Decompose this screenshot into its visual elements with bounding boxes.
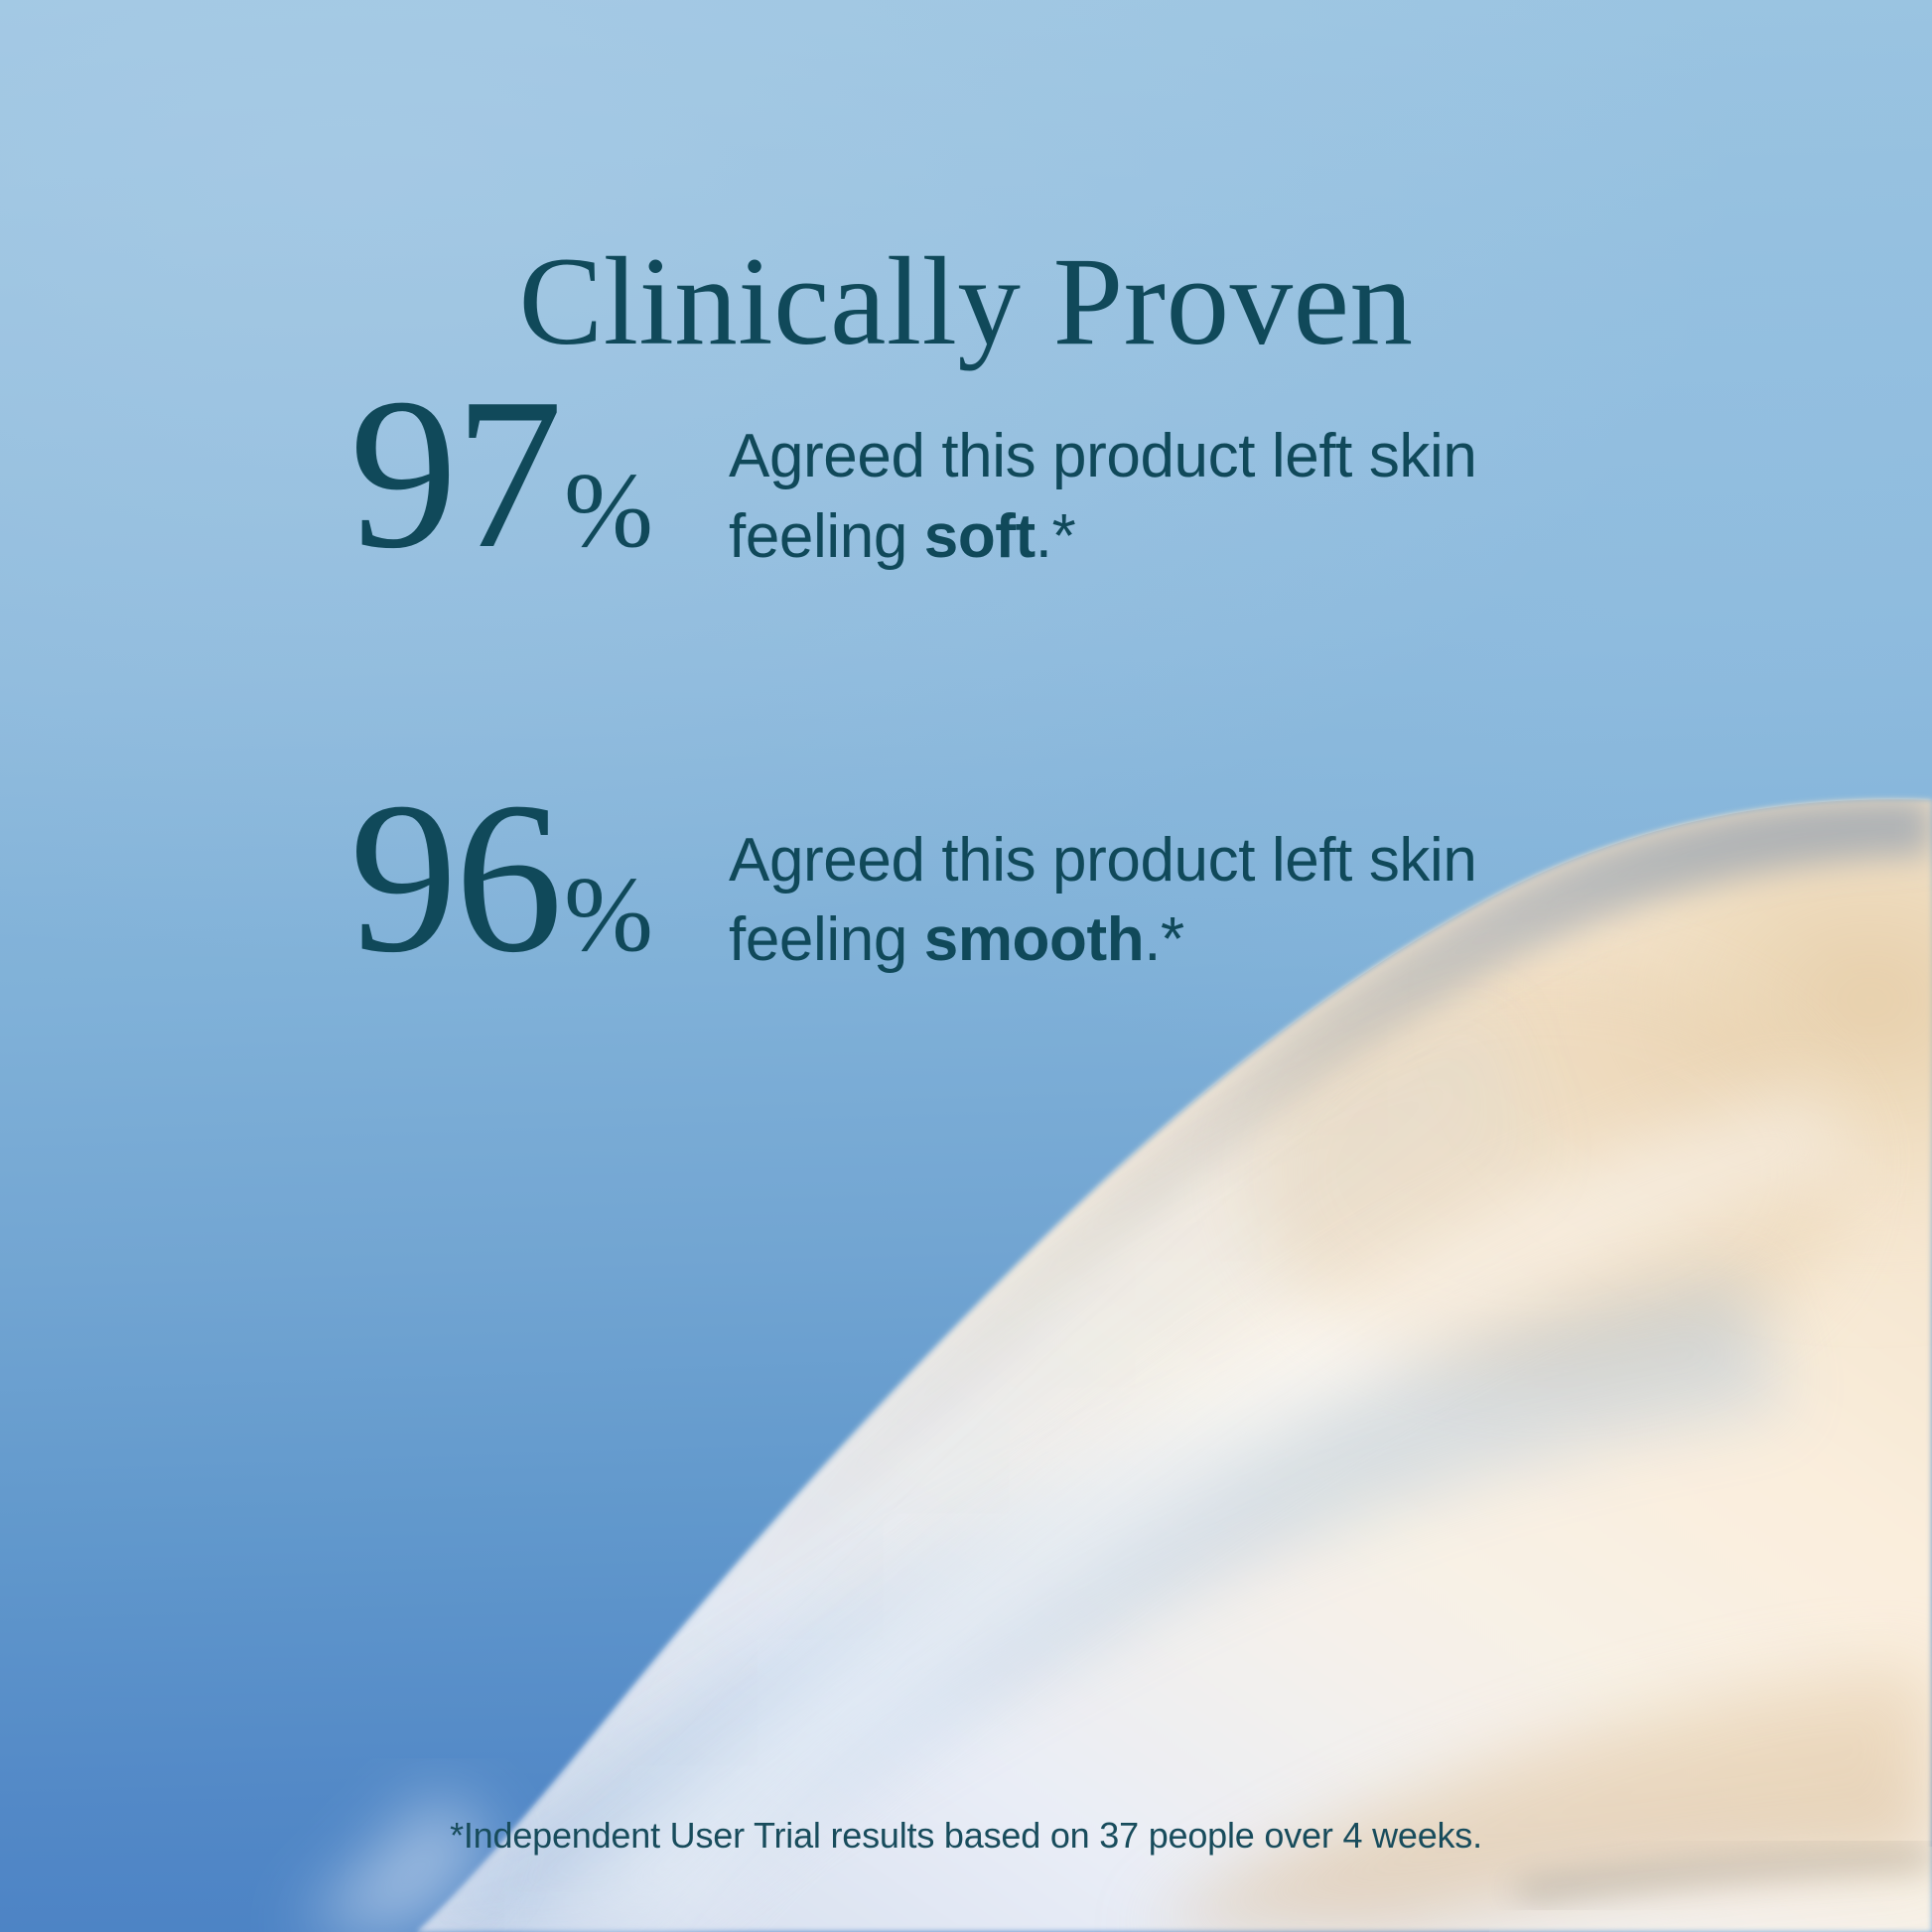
- stat-description-line2-prefix: feeling: [729, 905, 924, 974]
- stat-row: 97 % Agreed this product left skin feeli…: [349, 417, 1640, 617]
- percent-symbol: %: [564, 862, 653, 969]
- stat-description: Agreed this product left skin feeling so…: [729, 417, 1640, 577]
- stat-figure: 96 %: [349, 779, 729, 979]
- stat-value: 97: [349, 375, 560, 575]
- stat-description-line2-suffix: .*: [1035, 502, 1076, 571]
- stat-description-emphasis: soft: [924, 502, 1035, 571]
- percent-symbol: %: [564, 458, 653, 565]
- stat-description-emphasis: smooth: [924, 905, 1144, 974]
- stat-description-line2-prefix: feeling: [729, 502, 924, 571]
- stat-value: 96: [349, 779, 560, 979]
- promo-card: Clinically Proven 97 % Agreed this produ…: [0, 0, 1932, 1932]
- stat-description-line1: Agreed this product left skin: [729, 422, 1476, 490]
- stat-figure: 97 %: [349, 375, 729, 575]
- stat-description-line1: Agreed this product left skin: [729, 826, 1476, 895]
- stat-description: Agreed this product left skin feeling sm…: [729, 821, 1640, 981]
- page-title: Clinically Proven: [0, 235, 1932, 369]
- stat-description-line2-suffix: .*: [1144, 905, 1184, 974]
- stat-row: 96 % Agreed this product left skin feeli…: [349, 821, 1640, 1021]
- footnote-text: *Independent User Trial results based on…: [0, 1813, 1932, 1860]
